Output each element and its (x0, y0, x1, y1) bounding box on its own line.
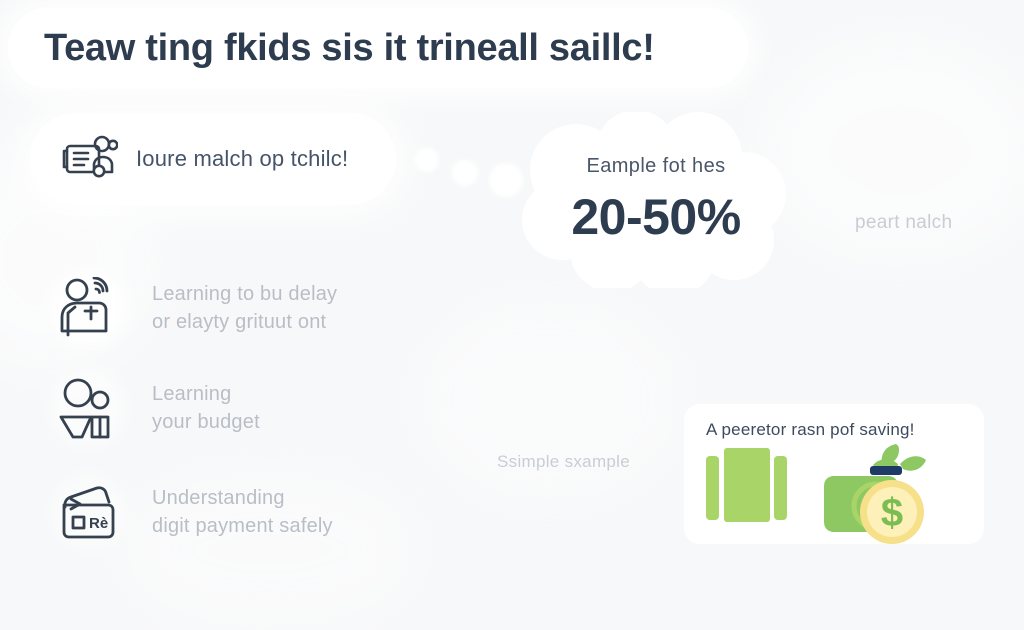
thought-dot-2 (452, 160, 478, 186)
hand-card-icon: Rè (38, 462, 138, 562)
list-item-line-1: Understanding (152, 487, 285, 509)
info-card[interactable]: Ioure malch op tchilc! (30, 113, 396, 205)
dollar-coin-symbol: $ (881, 491, 903, 535)
simple-example-label: Ssimple sxample (497, 452, 630, 472)
dollar-coin-icon: $ (860, 480, 924, 544)
list-item-text: Learning your budget (152, 380, 260, 436)
two-people-icon (38, 358, 138, 458)
books-icon (706, 448, 787, 522)
page-title-banner: Teaw ting fkids sis it trineall saillc! (8, 8, 748, 88)
list-item-line-1: Learning (152, 383, 231, 405)
page-title: Teaw ting fkids sis it trineall saillc! (44, 27, 655, 70)
poster-canvas: Teaw ting fkids sis it trineall saillc! … (0, 0, 1024, 585)
list-item[interactable]: Learning your budget (38, 358, 260, 458)
person-signal-icon (38, 258, 138, 358)
list-item-line-2: or elayty grituut ont (152, 308, 337, 336)
savings-card[interactable]: A peeretor rasn pof saving! (684, 404, 984, 544)
list-item[interactable]: Learning to bu delay or elayty grituut o… (38, 258, 337, 358)
hand-card-icon-glyph: Rè (89, 515, 108, 532)
list-item-line-2: digit payment safely (152, 512, 333, 540)
list-item-line-1: Learning to bu delay (152, 283, 337, 305)
bag-band (870, 466, 902, 475)
savings-illustration: $ (684, 442, 984, 544)
stat-cloud-value: 20-50% (571, 188, 740, 246)
list-item-line-2: your budget (152, 408, 260, 436)
list-item[interactable]: Rè Understanding digit payment safely (38, 462, 333, 562)
thought-dot-1 (415, 148, 439, 172)
stat-cloud: Eample fot hes 20-50% (506, 112, 806, 288)
right-faint-label: peart nalch (855, 212, 952, 234)
list-item-text: Learning to bu delay or elayty grituut o… (152, 280, 337, 336)
stat-cloud-label: Eample fot hes (586, 155, 725, 178)
info-card-text: Ioure malch op tchilc! (136, 146, 348, 172)
savings-card-title: A peeretor rasn pof saving! (706, 420, 915, 440)
list-item-text: Understanding digit payment safely (152, 484, 333, 540)
id-card-people-icon (62, 134, 118, 184)
